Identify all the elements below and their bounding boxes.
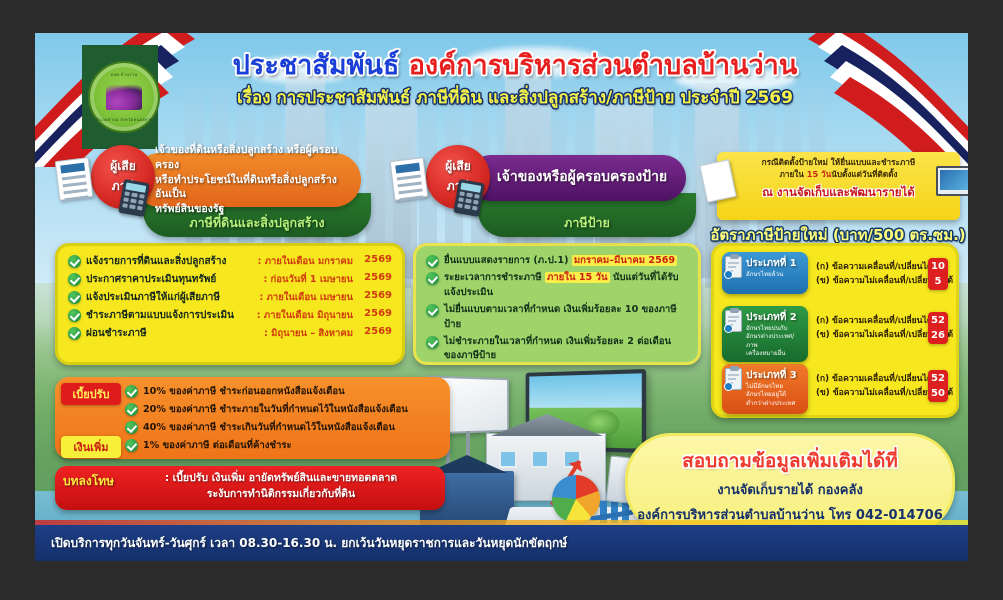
rate-values-3: 5250	[928, 370, 948, 402]
land-tax-year: 2569	[358, 326, 392, 337]
penalty-panel: เบี้ยปรับ เงินเพิ่ม 10% ของค่าภาษี ชำระก…	[55, 377, 450, 459]
sign-tax-row: ระยะเวลาการชำระภาษี ภายใน 15 วัน นับแต่ว…	[426, 271, 688, 300]
check-icon	[426, 336, 439, 349]
penalty-text: 1% ของค่าภาษี ต่อเดือนที่ค้างชำระ	[143, 438, 292, 453]
penalty-row: 40% ของค่าภาษี ชำระเกินวันที่กำหนดไว้ในห…	[125, 420, 442, 435]
penalty-row: 20% ของค่าภาษี ชำระภายในวันที่กำหนดไว้ใน…	[125, 402, 442, 417]
contact-department: งานจัดเก็บรายได้ กองคลัง	[628, 481, 952, 501]
badge-pill-sign: เจ้าของหรือผู้ครอบครองป้าย	[468, 155, 686, 201]
land-tax-year: 2569	[358, 272, 392, 283]
check-icon	[68, 309, 81, 322]
punishment-line-1: : เบี้ยปรับ เงินเพิ่ม อายัดทรัพย์สินและข…	[127, 471, 435, 487]
new-sign-notice: กรณีติดตั้งป้ายใหม่ ให้ยื่นแบบและชำระภาษ…	[717, 152, 960, 220]
check-icon	[125, 385, 138, 398]
sign-tax-text: ยื่นแบบแสดงรายการ (ภ.ป.1) มกราคม–มีนาคม …	[444, 254, 677, 268]
service-hours-label: เปิดบริการทุกวันจันทร์-วันศุกร์ เวลา 08.…	[51, 534, 567, 553]
check-icon	[426, 272, 439, 285]
sign-tax-text-pre: ระยะเวลาการชำระภาษี	[444, 272, 545, 283]
land-tax-rows: แจ้งรายการที่ดินและสิ่งปลูกสร้าง: ภายในเ…	[68, 254, 392, 341]
clipboard-check-icon	[724, 270, 733, 279]
emblem-bottom-label: อำเภอท่าบ่อ จังหวัดหนองคาย	[90, 116, 158, 123]
sign-tax-text-pre: ไม่ยื่นแบบตามเวลาที่กำหนด เงินเพิ่มร้อยล…	[444, 304, 677, 329]
check-icon	[68, 273, 81, 286]
check-icon	[426, 255, 439, 268]
sign-tax-text: ไม่ยื่นแบบตามเวลาที่กำหนด เงินเพิ่มร้อยล…	[444, 303, 688, 332]
badge-pill-land: เจ้าของที่ดินหรือสิ่งปลูกสร้าง หรือผู้คร…	[133, 153, 361, 207]
rate-values-1: 105	[928, 258, 948, 290]
rate-category-detail: ไม่มีอักษรไทย อักษรไทยอยู่ใต้ ต่ำกว่าต่า…	[746, 383, 804, 408]
title-blue: ประชาสัมพันธ์	[233, 50, 400, 81]
penalty-row: 10% ของค่าภาษี ชำระก่อนออกหนังสือแจ้งเตื…	[125, 384, 442, 399]
title-red: องค์การบริหารส่วนตำบลบ้านว่าน	[409, 50, 798, 81]
contact-panel: สอบถามข้อมูลเพิ่มเติมได้ที่ งานจัดเก็บรา…	[625, 433, 955, 533]
rate-category-name: ประเภทที่ 1	[746, 256, 804, 271]
penalty-text: 10% ของค่าภาษี ชำระก่อนออกหนังสือแจ้งเตื…	[143, 384, 345, 399]
rate-values-2: 5226	[928, 312, 948, 344]
clipboard-check-icon	[724, 382, 733, 391]
contact-title: สอบถามข้อมูลเพิ่มเติมได้ที่	[628, 446, 952, 476]
land-tax-row: แจ้งประเมินภาษีให้แก่ผู้เสียภาษี: ภายในเ…	[68, 290, 392, 305]
notice-line2-pre: ภายใน	[780, 169, 807, 179]
rate-category-3: ประเภทที่ 3ไม่มีอักษรไทย อักษรไทยอยู่ใต้…	[722, 364, 808, 414]
rate-value: 10	[928, 259, 948, 274]
monitor-chart-icon	[936, 166, 968, 196]
rate-category-name: ประเภทที่ 2	[746, 310, 804, 325]
penalty-text: 40% ของค่าภาษี ชำระเกินวันที่กำหนดไว้ในห…	[143, 420, 395, 435]
badge-footer-label: ภาษีป้าย	[564, 213, 610, 233]
rate-category-2: ประเภทที่ 2อักษรไทยปนกับ อักษรต่างประเทศ…	[722, 306, 808, 362]
land-tax-row: ผ่อนชำระภาษี: มิถุนายน – สิงหาคม2569	[68, 326, 392, 341]
sign-tax-text-highlight: ภายใน 15 วัน	[545, 272, 610, 283]
sign-tax-text-pre: ยื่นแบบแสดงรายการ (ภ.ป.1)	[444, 255, 572, 266]
check-icon	[68, 327, 81, 340]
land-tax-schedule-panel: แจ้งรายการที่ดินและสิ่งปลูกสร้าง: ภายในเ…	[55, 243, 405, 365]
rate-value: 5	[928, 274, 948, 289]
service-hours-bar: เปิดบริการทุกวันจันทร์-วันศุกร์ เวลา 08.…	[35, 525, 968, 561]
emblem-top-label: อบต.บ้านว่าน	[90, 71, 158, 78]
land-tax-label: แจ้งประเมินภาษีให้แก่ผู้เสียภาษี	[86, 290, 220, 305]
rate-category-detail: อักษรไทยปนกับ อักษรต่างประเทศ/ภาพ เครื่อ…	[746, 325, 804, 358]
document-icon	[390, 157, 429, 201]
land-tax-label: ผ่อนชำระภาษี	[86, 326, 147, 341]
land-tax-deadline: : ภายในเดือน มกราคม	[258, 254, 353, 269]
badge-description: เจ้าของที่ดินหรือสิ่งปลูกสร้าง หรือผู้คร…	[155, 143, 349, 218]
taxpayer-badge-land: ภาษีที่ดินและสิ่งปลูกสร้าง เจ้าของที่ดิน…	[55, 145, 375, 237]
notice-office: ณ งานจัดเก็บและพัฒนารายได้	[723, 184, 954, 202]
punishment-line-2: ระงับการทำนิติกรรมเกี่ยวกับที่ดิน	[127, 487, 435, 503]
notice-line-1: กรณีติดตั้งป้ายใหม่ ให้ยื่นแบบและชำระภาษ…	[723, 157, 954, 169]
sign-tax-row: ยื่นแบบแสดงรายการ (ภ.ป.1) มกราคม–มีนาคม …	[426, 254, 688, 268]
sign-tax-text-pre: ไม่ชำระภายในเวลาที่กำหนด เงินเพิ่มร้อยละ…	[444, 336, 671, 361]
land-tax-label: ประกาศราคาประเมินทุนทรัพย์	[86, 272, 216, 287]
check-icon	[68, 255, 81, 268]
title-row: ประชาสัมพันธ์ องค์การบริหารส่วนตำบลบ้านว…	[170, 51, 860, 81]
penalty-row: 1% ของค่าภาษี ต่อเดือนที่ค้างชำระ	[125, 438, 442, 453]
land-tax-deadline: : ภายในเดือน มิถุนายน	[257, 308, 353, 323]
sign-tax-panel: ยื่นแบบแสดงรายการ (ภ.ป.1) มกราคม–มีนาคม …	[413, 243, 701, 365]
emblem-circle: อบต.บ้านว่าน อำเภอท่าบ่อ จังหวัดหนองคาย	[88, 61, 160, 133]
rate-value: 52	[928, 371, 948, 386]
badge-circle-line1: ผู้เสีย	[426, 157, 490, 176]
penalty-rows: 10% ของค่าภาษี ชำระก่อนออกหนังสือแจ้งเตื…	[125, 384, 442, 453]
land-tax-row: แจ้งรายการที่ดินและสิ่งปลูกสร้าง: ภายในเ…	[68, 254, 392, 269]
sign-tax-text: ไม่ชำระภายในเวลาที่กำหนด เงินเพิ่มร้อยละ…	[444, 335, 688, 364]
sign-tax-text-highlight: มกราคม–มีนาคม 2569	[572, 255, 677, 266]
notice-line2-highlight: 15 วัน	[807, 169, 831, 179]
rate-category-name: ประเภทที่ 3	[746, 368, 804, 383]
land-tax-row: ประกาศราคาประเมินทุนทรัพย์: ก่อนวันที่ 1…	[68, 272, 392, 287]
land-tax-row: ชำระภาษีตามแบบแจ้งการประเมิน: ภายในเดือน…	[68, 308, 392, 323]
punishment-tag: บทลงโทษ	[63, 472, 114, 491]
sign-tax-row: ไม่ยื่นแบบตามเวลาที่กำหนด เงินเพิ่มร้อยล…	[426, 303, 688, 332]
sign-tax-row: ไม่ชำระภายในเวลาที่กำหนด เงินเพิ่มร้อยละ…	[426, 335, 688, 364]
badge-circle-line1: ผู้เสีย	[91, 157, 155, 176]
punishment-bar: บทลงโทษ : เบี้ยปรับ เงินเพิ่ม อายัดทรัพย…	[55, 466, 445, 510]
sign-tax-rows: ยื่นแบบแสดงรายการ (ภ.ป.1) มกราคม–มีนาคม …	[426, 254, 688, 364]
penalty-fine-tag: เบี้ยปรับ	[61, 383, 121, 405]
land-tax-label: ชำระภาษีตามแบบแจ้งการประเมิน	[86, 308, 234, 323]
rate-category-1: ประเภทที่ 1อักษรไทยล้วน	[722, 252, 808, 294]
sign-rate-table-panel: ประเภทที่ 1อักษรไทยล้วน(ก) ข้อความเคลื่อ…	[711, 243, 959, 418]
check-icon	[426, 304, 439, 317]
penalty-surcharge-tag: เงินเพิ่ม	[61, 436, 121, 458]
poster-canvas: อบต.บ้านว่าน อำเภอท่าบ่อ จังหวัดหนองคาย …	[35, 33, 968, 561]
sign-tax-text: ระยะเวลาการชำระภาษี ภายใน 15 วัน นับแต่ว…	[444, 271, 688, 300]
organization-emblem: อบต.บ้านว่าน อำเภอท่าบ่อ จังหวัดหนองคาย	[70, 45, 170, 149]
check-icon	[125, 403, 138, 416]
rate-value: 50	[928, 386, 948, 401]
land-tax-deadline: : ภายในเดือน เมษายน	[260, 290, 354, 305]
penalty-text: 20% ของค่าภาษี ชำระภายในวันที่กำหนดไว้ใน…	[143, 402, 408, 417]
page-title: ประชาสัมพันธ์ องค์การบริหารส่วนตำบลบ้านว…	[170, 51, 860, 111]
clipboard-icon	[725, 310, 742, 332]
clipboard-check-icon	[724, 324, 733, 333]
land-tax-deadline: : มิถุนายน – สิงหาคม	[264, 326, 353, 341]
notice-line-2: ภายใน 15 วันนับตั้งแต่วันที่ติดตั้ง	[723, 169, 954, 181]
land-tax-year: 2569	[358, 290, 392, 301]
document-icon	[55, 157, 94, 201]
land-tax-year: 2569	[358, 308, 392, 319]
check-icon	[125, 421, 138, 434]
rate-category-detail: อักษรไทยล้วน	[746, 271, 804, 279]
rate-value: 52	[928, 313, 948, 328]
check-icon	[125, 439, 138, 452]
clipboard-icon	[725, 368, 742, 390]
emblem-temple-icon	[106, 84, 142, 110]
taxpayer-badge-sign: ภาษีป้าย เจ้าของหรือผู้ครอบครองป้าย ผู้เ…	[390, 145, 700, 237]
badge-description: เจ้าของหรือผู้ครอบครองป้าย	[497, 168, 667, 188]
check-icon	[68, 291, 81, 304]
clipboard-icon	[725, 256, 742, 278]
land-tax-year: 2569	[358, 254, 392, 265]
notice-line2-post: นับตั้งแต่วันที่ติดตั้ง	[831, 169, 897, 179]
land-tax-label: แจ้งรายการที่ดินและสิ่งปลูกสร้าง	[86, 254, 226, 269]
page-subtitle: เรื่อง การประชาสัมพันธ์ ภาษีที่ดิน และสิ…	[170, 84, 860, 111]
land-tax-deadline: : ก่อนวันที่ 1 เมษายน	[263, 272, 353, 287]
rate-value: 26	[928, 328, 948, 343]
